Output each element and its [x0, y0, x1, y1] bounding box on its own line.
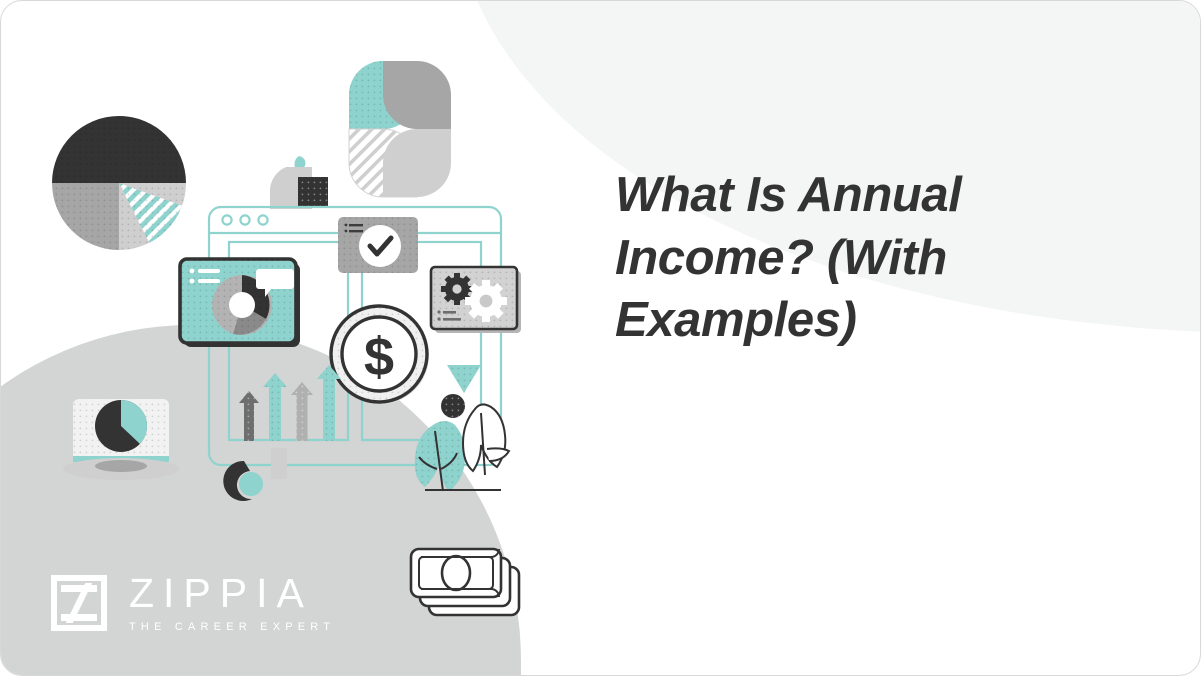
page-title: What Is Annual Income? (With Examples)	[615, 164, 1085, 352]
bar-arrows-growth	[239, 365, 341, 441]
gears-card	[431, 267, 521, 333]
gray-chip	[271, 448, 287, 479]
teal-triangle	[447, 365, 481, 393]
arrow-4	[317, 365, 341, 441]
zippia-tagline: THE CAREER EXPERT	[129, 622, 335, 633]
banknote-stack	[411, 549, 519, 615]
svg-text:$: $	[364, 327, 394, 387]
arrow-1	[239, 391, 259, 441]
hero-card: $	[0, 0, 1201, 676]
zippia-logo[interactable]: ZIPPIA THE CAREER EXPERT	[51, 573, 335, 633]
zippia-z-monogram-icon	[51, 575, 107, 631]
arrow-2	[263, 373, 287, 441]
dollar-coin: $	[331, 306, 429, 404]
laptop-pie-chart	[63, 399, 179, 480]
zippia-logo-text: ZIPPIA THE CAREER EXPERT	[129, 573, 335, 633]
flower-four-petal	[349, 61, 451, 197]
arrow-3	[291, 382, 313, 441]
plant-leaves	[415, 404, 509, 491]
c-arc-teal-dot	[223, 461, 263, 501]
donut-chart-card	[180, 259, 300, 347]
pie-chart-large	[52, 116, 186, 250]
laptop-pie	[95, 400, 147, 452]
zippia-wordmark: ZIPPIA	[129, 573, 335, 614]
checkmark-card	[338, 217, 418, 273]
